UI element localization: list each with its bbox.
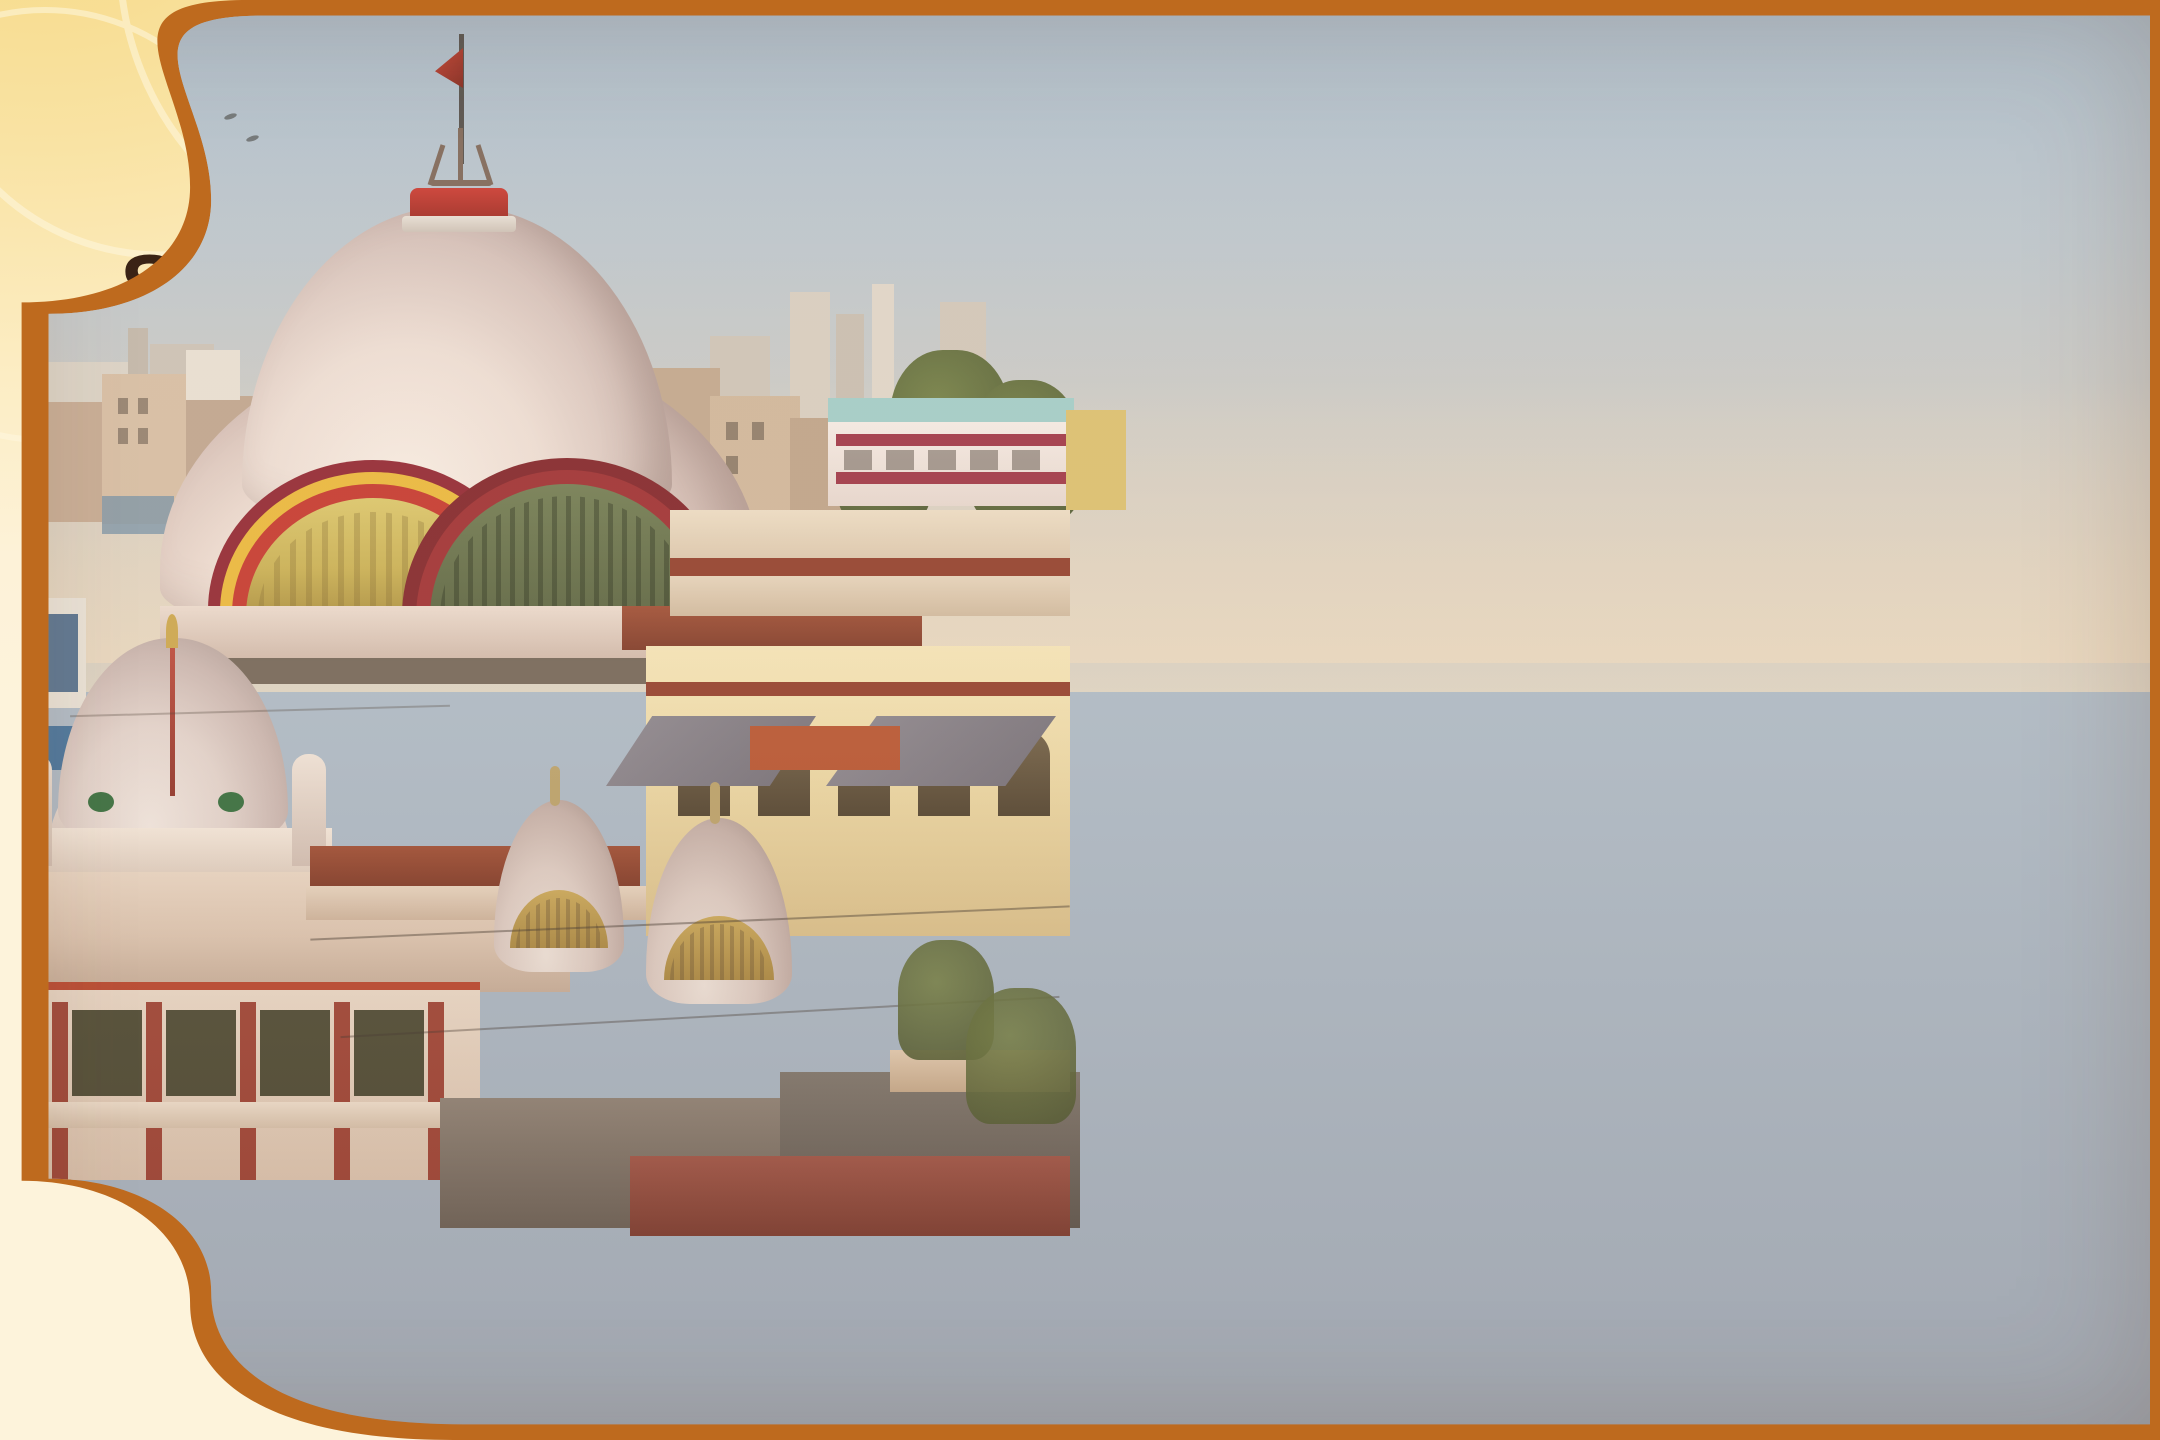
finial-collar xyxy=(402,216,516,232)
photo-inner xyxy=(10,10,2150,1430)
green-medallion xyxy=(88,792,114,812)
green-medallion xyxy=(218,792,244,812)
dome-stripe xyxy=(170,646,175,796)
temple-photo xyxy=(10,10,2150,1430)
photo-clip xyxy=(10,10,2150,1430)
bird-icon xyxy=(165,69,176,77)
dome-finial xyxy=(166,614,178,648)
